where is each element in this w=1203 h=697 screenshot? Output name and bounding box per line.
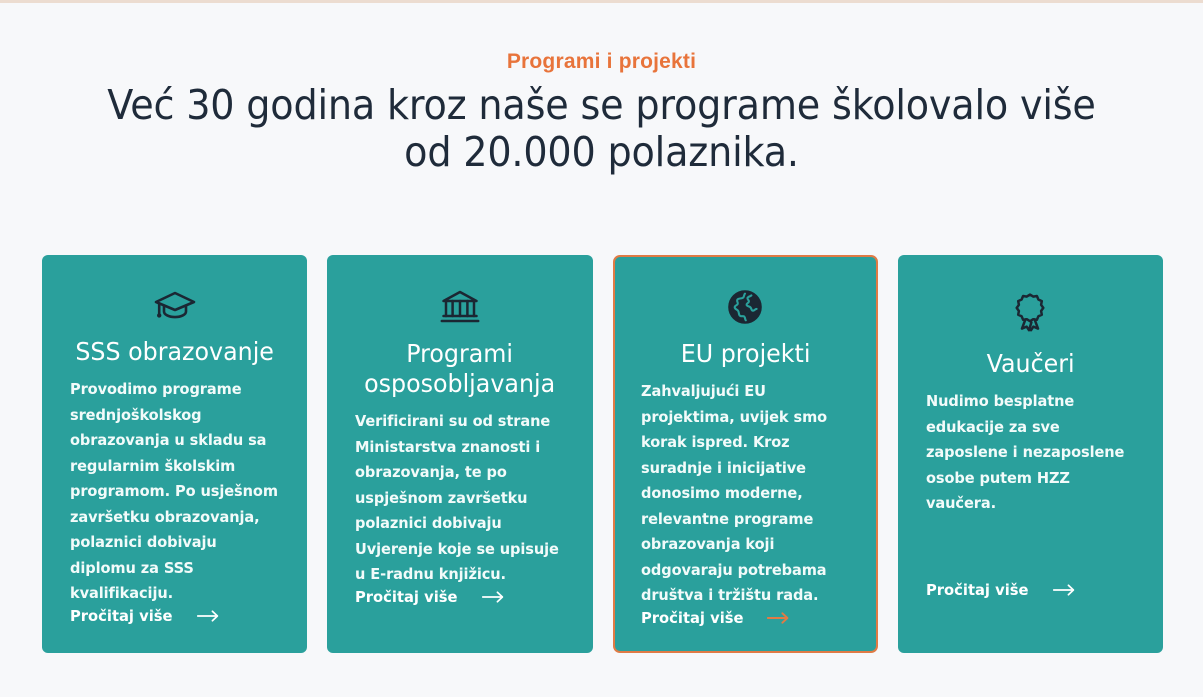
program-card-sss[interactable]: SSS obrazovanje Provodimo programe sredn… — [42, 255, 307, 653]
page-title: Već 30 godina kroz naše se programe škol… — [98, 82, 1105, 176]
read-more-label: Pročitaj više — [641, 609, 743, 627]
program-card-osposobljavanja[interactable]: Programi osposobljavanja Verificirani su… — [327, 255, 592, 653]
arrow-right-icon — [482, 591, 504, 603]
arrow-right-icon — [767, 612, 789, 624]
top-divider-rule — [0, 0, 1203, 3]
page-title-line-2: od 20.000 polaznika. — [98, 129, 1105, 176]
program-card-grid: SSS obrazovanje Provodimo programe sredn… — [42, 255, 1163, 653]
card-description: Provodimo programe srednjoškolskog obraz… — [70, 377, 278, 607]
card-title: Vaučeri — [931, 349, 1130, 379]
graduation-cap-icon — [70, 289, 279, 323]
award-ribbon-icon — [926, 289, 1135, 335]
read-more-label: Pročitaj više — [70, 607, 172, 625]
arrow-right-icon — [197, 610, 219, 622]
programs-section: Programi i projekti Već 30 godina kroz n… — [0, 0, 1203, 697]
program-card-eu-projekti[interactable]: EU projekti Zahvaljujući EU projektima, … — [613, 255, 878, 653]
page-title-line-1: Već 30 godina kroz naše se programe škol… — [98, 82, 1105, 129]
program-card-vauceri[interactable]: Vaučeri Nudimo besplatne edukacije za sv… — [898, 255, 1163, 653]
card-description: Verificirani su od strane Ministarstva z… — [355, 409, 563, 588]
read-more-label: Pročitaj više — [926, 581, 1028, 599]
card-description: Nudimo besplatne edukacije za sve zaposl… — [926, 389, 1134, 517]
arrow-right-icon — [1053, 584, 1075, 596]
card-title: Programi osposobljavanja — [360, 339, 559, 399]
read-more-link[interactable]: Pročitaj više — [355, 588, 564, 634]
read-more-link[interactable]: Pročitaj više — [70, 607, 279, 653]
read-more-label: Pročitaj više — [355, 588, 457, 606]
read-more-link[interactable]: Pročitaj više — [641, 609, 850, 657]
card-description: Zahvaljujući EU projektima, uvijek smo k… — [641, 379, 849, 609]
globe-icon — [641, 289, 850, 325]
bank-columns-icon — [355, 289, 564, 325]
section-eyebrow: Programi i projekti — [0, 50, 1203, 74]
card-title: EU projekti — [646, 339, 845, 369]
read-more-link[interactable]: Pročitaj više — [926, 581, 1135, 627]
card-title: SSS obrazovanje — [75, 337, 274, 367]
